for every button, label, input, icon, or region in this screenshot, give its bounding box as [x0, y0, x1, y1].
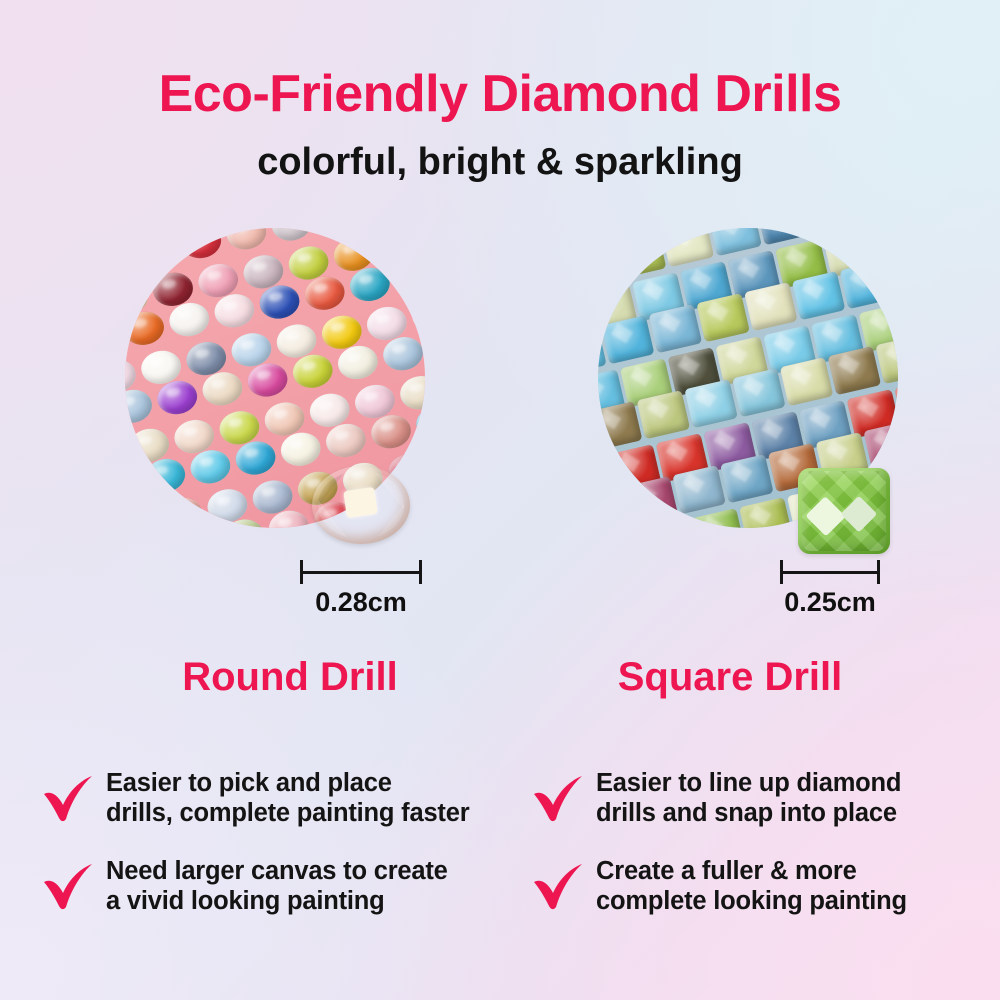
scale-value: 0.28cm: [300, 588, 422, 618]
scale-bar-cap-right: [877, 560, 880, 584]
drill-bead: [691, 508, 745, 528]
drill-bead: [278, 429, 324, 469]
check-mark-icon: [530, 860, 588, 912]
list-item-text: Easier to line up diamonddrills and snap…: [596, 768, 901, 828]
drill-bead: [392, 256, 425, 296]
drill-bead: [125, 503, 160, 528]
drill-bead: [257, 282, 303, 322]
drill-bead: [744, 282, 798, 331]
drill-bead: [397, 373, 425, 413]
drill-bead: [125, 239, 134, 279]
drill-bead: [624, 476, 678, 525]
drill-bead: [125, 464, 143, 504]
check-mark-icon: [530, 772, 588, 824]
drill-bead: [125, 308, 167, 348]
drill-bead: [323, 420, 369, 460]
drill-bead: [347, 264, 393, 304]
page-title: Eco-Friendly Diamond Drills: [0, 68, 1000, 120]
list-item-text: Easier to pick and placedrills, complete…: [106, 768, 469, 828]
square-drill-sample: [798, 468, 890, 554]
list-item-text: Create a fuller & morecomplete looking p…: [596, 856, 907, 916]
list-item: Easier to pick and placedrills, complete…: [40, 768, 510, 830]
list-item: Easier to line up diamonddrills and snap…: [530, 768, 1000, 830]
drill-bead: [380, 334, 425, 374]
round-sample-highlight: [344, 487, 379, 518]
drill-bead: [792, 271, 846, 320]
drill-bead: [409, 295, 425, 335]
drill-bead: [421, 228, 425, 257]
page-subtitle: colorful, bright & sparkling: [0, 143, 1000, 181]
drill-bead: [660, 228, 714, 267]
drill-bead: [188, 447, 234, 487]
scale-bar-cap-right: [419, 560, 422, 584]
round-drill-sample: [312, 466, 410, 544]
drill-bead: [133, 230, 179, 270]
scale-value: 0.25cm: [780, 588, 880, 618]
drill-bead: [648, 304, 702, 353]
scale-bar-cap-left: [300, 560, 303, 584]
drill-bead: [418, 520, 425, 528]
list-item: Create a fuller & morecomplete looking p…: [530, 856, 1000, 918]
drill-bead: [827, 346, 881, 395]
drill-bead: [212, 291, 258, 331]
drill-bead: [314, 228, 360, 235]
drill-bead: [613, 229, 667, 278]
scale-bar-rule: [780, 571, 880, 574]
check-mark-icon: [40, 860, 98, 912]
drill-bead: [720, 454, 774, 503]
square-drill-heading: Square Drill: [510, 657, 950, 697]
round-drill-panel: 0.28cm: [60, 228, 480, 558]
drill-bead: [708, 228, 762, 256]
drill-bead: [839, 260, 893, 309]
drill-bead: [233, 438, 279, 478]
drill-bead: [125, 386, 155, 426]
drill-bead: [290, 351, 336, 391]
drill-bead: [368, 412, 414, 452]
drill-bead: [780, 357, 834, 406]
drill-bead: [142, 456, 188, 496]
drill-bead: [178, 228, 224, 262]
drill-bead: [335, 342, 381, 382]
drill-bead: [598, 401, 643, 450]
drill-bead: [224, 228, 270, 253]
square-drill-benefits: Easier to line up diamonddrills and snap…: [530, 768, 1000, 944]
round-drill-benefits: Easier to pick and placedrills, complete…: [40, 768, 510, 944]
drill-bead: [738, 497, 792, 528]
drill-bead: [245, 360, 291, 400]
drill-bead: [601, 315, 655, 364]
scale-bar-rule: [300, 571, 422, 574]
drill-bead: [684, 379, 738, 428]
drill-bead: [672, 465, 726, 514]
scale-bar-line: [780, 560, 880, 584]
list-item: Need larger canvas to createa vivid look…: [40, 856, 510, 918]
drill-bead: [732, 368, 786, 417]
drill-bead: [696, 293, 750, 342]
scale-bar-cap-left: [780, 560, 783, 584]
round-scale-bar: 0.28cm: [300, 560, 422, 618]
list-item-text: Need larger canvas to createa vivid look…: [106, 856, 448, 916]
round-drill-heading: Round Drill: [70, 657, 510, 697]
scale-bar-line: [300, 560, 422, 584]
drill-bead: [166, 300, 212, 340]
drill-bead: [200, 369, 246, 409]
check-mark-icon: [40, 772, 98, 824]
drill-bead: [269, 228, 315, 244]
drill-bead: [154, 378, 200, 418]
square-drill-panel: 0.25cm: [540, 228, 960, 558]
infographic-poster: Eco-Friendly Diamond Drills colorful, br…: [0, 0, 1000, 1000]
drill-bead: [302, 273, 348, 313]
drill-bead: [159, 495, 205, 528]
drill-bead: [636, 390, 690, 439]
square-scale-bar: 0.25cm: [780, 560, 880, 618]
